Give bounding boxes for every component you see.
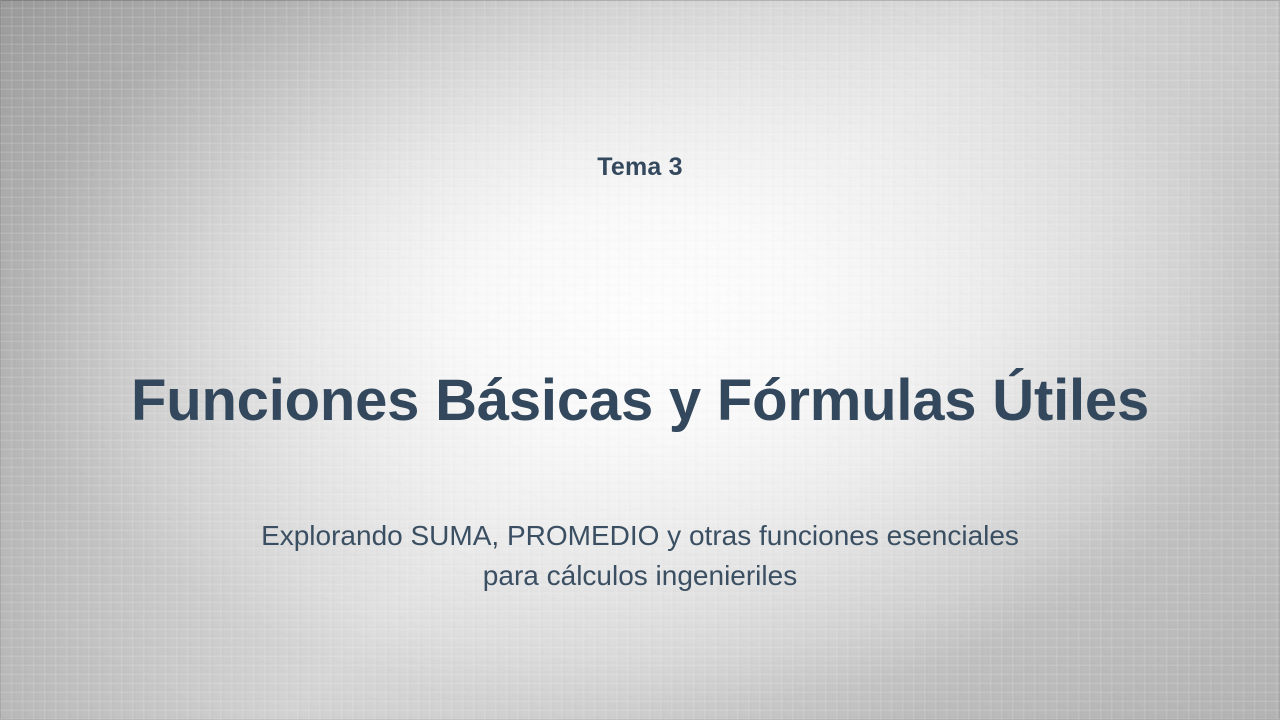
slide-subtitle-line-1: Explorando SUMA, PROMEDIO y otras funcio…: [190, 516, 1090, 556]
slide-subtitle: Explorando SUMA, PROMEDIO y otras funcio…: [190, 516, 1090, 596]
presentation-slide: Tema 3 Funciones Básicas y Fórmulas Útil…: [0, 0, 1280, 720]
slide-content: Tema 3 Funciones Básicas y Fórmulas Útil…: [0, 0, 1280, 720]
slide-title: Funciones Básicas y Fórmulas Útiles: [0, 368, 1280, 435]
slide-subtitle-line-2: para cálculos ingenieriles: [190, 556, 1090, 596]
slide-eyebrow-label: Tema 3: [0, 152, 1280, 182]
